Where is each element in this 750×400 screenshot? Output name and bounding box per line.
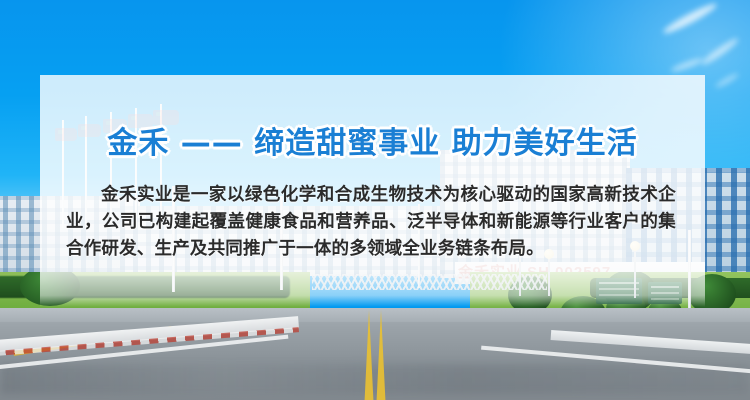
road-far-edge xyxy=(0,308,750,322)
road xyxy=(0,308,750,400)
road-shadow xyxy=(0,364,750,394)
company-banner: 金禾实业 SH.002597 xyxy=(0,0,750,400)
center-line-marking xyxy=(377,310,386,400)
curb-right xyxy=(551,330,750,356)
banner-headline: 金禾 —— 缔造甜蜜事业 助力美好生活 xyxy=(40,124,705,164)
banner-body-text: 金禾实业是一家以绿色化学和合成生物技术为核心驱动的国家高新技术企业，公司已构建起… xyxy=(66,182,676,263)
center-line-marking xyxy=(365,310,374,400)
